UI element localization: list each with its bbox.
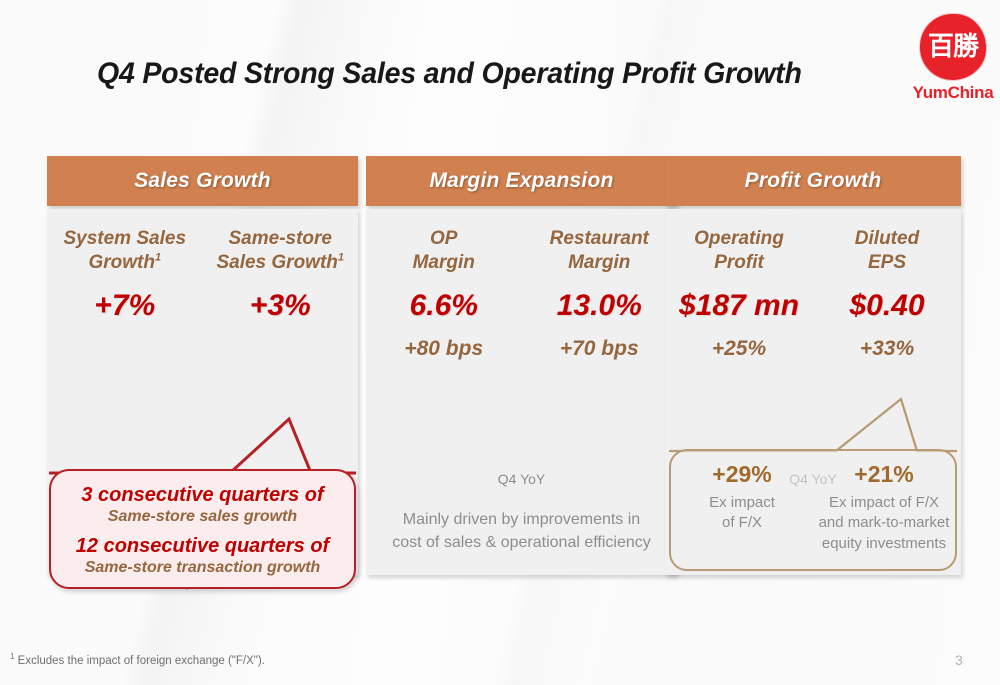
callout-subline: Same-store transaction growth xyxy=(51,559,354,577)
logo-seal-characters: 百勝 xyxy=(928,34,978,60)
metric-row: OP Margin 6.6% +80 bps Restaurant Margin… xyxy=(366,209,677,361)
metric-label: OP Margin xyxy=(366,227,522,275)
callout-headline: 3 consecutive quarters of xyxy=(51,484,354,507)
metric-value: +3% xyxy=(203,289,359,323)
ex-value: +21% xyxy=(817,461,951,488)
metric-label: Same-store Sales Growth1 xyxy=(203,227,359,275)
callout-ex-fx: +29% Ex impact of F/X +21% Ex impact of … xyxy=(669,449,957,571)
callout-block-sales: 3 consecutive quarters of Same-store sal… xyxy=(51,484,354,526)
metric-value: $0.40 xyxy=(813,289,961,323)
metric-sub: +33% xyxy=(813,337,961,361)
slide-canvas: 百勝 YumChina Q4 Posted Strong Sales and O… xyxy=(0,0,1000,685)
page-number: 3 xyxy=(955,652,963,668)
panel-header-profit-growth: Profit Growth xyxy=(665,156,961,206)
footnote-ref: 1 xyxy=(155,251,161,263)
panel-profit-growth: Profit Growth Operating Profit $187 mn +… xyxy=(665,156,961,575)
ex-impact-diluted-eps: +21% Ex impact of F/X and mark-to-market… xyxy=(813,461,955,569)
slide-title: Q4 Posted Strong Sales and Operating Pro… xyxy=(97,57,857,91)
metric-label: System Sales Growth1 xyxy=(47,227,203,275)
metric-sub: +80 bps xyxy=(366,337,522,361)
metric-row: System Sales Growth1 +7% Same-store Sale… xyxy=(47,209,358,337)
metric-value: 6.6% xyxy=(366,289,522,323)
callout-pointer-tail-icon xyxy=(669,395,957,453)
panel-margin-expansion: Margin Expansion OP Margin 6.6% +80 bps … xyxy=(366,156,677,575)
metric-value: 13.0% xyxy=(522,289,678,323)
metric-operating-profit: Operating Profit $187 mn +25% xyxy=(665,227,813,361)
margin-description: Mainly driven by improvements in cost of… xyxy=(366,508,677,554)
ex-note: Ex impact of F/X xyxy=(675,493,809,534)
metric-diluted-eps: Diluted EPS $0.40 +33% xyxy=(813,227,961,361)
logo-seal-icon: 百勝 xyxy=(920,14,986,80)
metric-row: Operating Profit $187 mn +25% Diluted EP… xyxy=(665,209,961,361)
ex-impact-operating-profit: +29% Ex impact of F/X xyxy=(671,461,813,569)
metric-value: +7% xyxy=(47,289,203,323)
panel-body-profit-growth: Operating Profit $187 mn +25% Diluted EP… xyxy=(665,209,961,575)
metric-op-margin: OP Margin 6.6% +80 bps xyxy=(366,227,522,361)
logo-wordmark: YumChina xyxy=(907,83,999,103)
panel-body-margin-expansion: OP Margin 6.6% +80 bps Restaurant Margin… xyxy=(366,209,677,575)
metric-value: $187 mn xyxy=(665,289,813,323)
ex-value: +29% xyxy=(675,461,809,488)
metric-label: Restaurant Margin xyxy=(522,227,678,275)
yoy-note: Q4 YoY xyxy=(366,471,677,487)
panel-body-sales-growth: System Sales Growth1 +7% Same-store Sale… xyxy=(47,209,358,575)
metric-system-sales-growth: System Sales Growth1 +7% xyxy=(47,227,203,337)
footnote-ref: 1 xyxy=(338,251,344,263)
metric-sub: +70 bps xyxy=(522,337,678,361)
callout-subline: Same-store sales growth xyxy=(51,508,354,526)
panel-header-label: Profit Growth xyxy=(745,169,882,193)
callout-content: +29% Ex impact of F/X +21% Ex impact of … xyxy=(671,451,955,569)
metric-label: Operating Profit xyxy=(665,227,813,275)
callout-pointer-tail-icon xyxy=(49,415,356,475)
callout-content: 3 consecutive quarters of Same-store sal… xyxy=(51,471,354,587)
slide-footnote: 1 Excludes the impact of foreign exchang… xyxy=(10,652,265,667)
panel-header-label: Margin Expansion xyxy=(429,169,613,193)
callout-block-transaction: 12 consecutive quarters of Same-store tr… xyxy=(51,535,354,577)
metric-label: Diluted EPS xyxy=(813,227,961,275)
yum-china-logo: 百勝 YumChina xyxy=(907,14,999,106)
metric-sub: +25% xyxy=(665,337,813,361)
metric-restaurant-margin: Restaurant Margin 13.0% +70 bps xyxy=(522,227,678,361)
ex-note: Ex impact of F/X and mark-to-market equi… xyxy=(817,493,951,554)
callout-sales-streaks: 3 consecutive quarters of Same-store sal… xyxy=(49,469,356,589)
footnote-text: Excludes the impact of foreign exchange … xyxy=(14,655,264,667)
metric-same-store-sales-growth: Same-store Sales Growth1 +3% xyxy=(203,227,359,337)
panel-header-margin-expansion: Margin Expansion xyxy=(366,156,677,206)
panel-sales-growth: Sales Growth System Sales Growth1 +7% Sa… xyxy=(47,156,358,575)
callout-headline: 12 consecutive quarters of xyxy=(51,535,354,558)
panel-header-label: Sales Growth xyxy=(134,169,271,193)
panel-header-sales-growth: Sales Growth xyxy=(47,156,358,206)
